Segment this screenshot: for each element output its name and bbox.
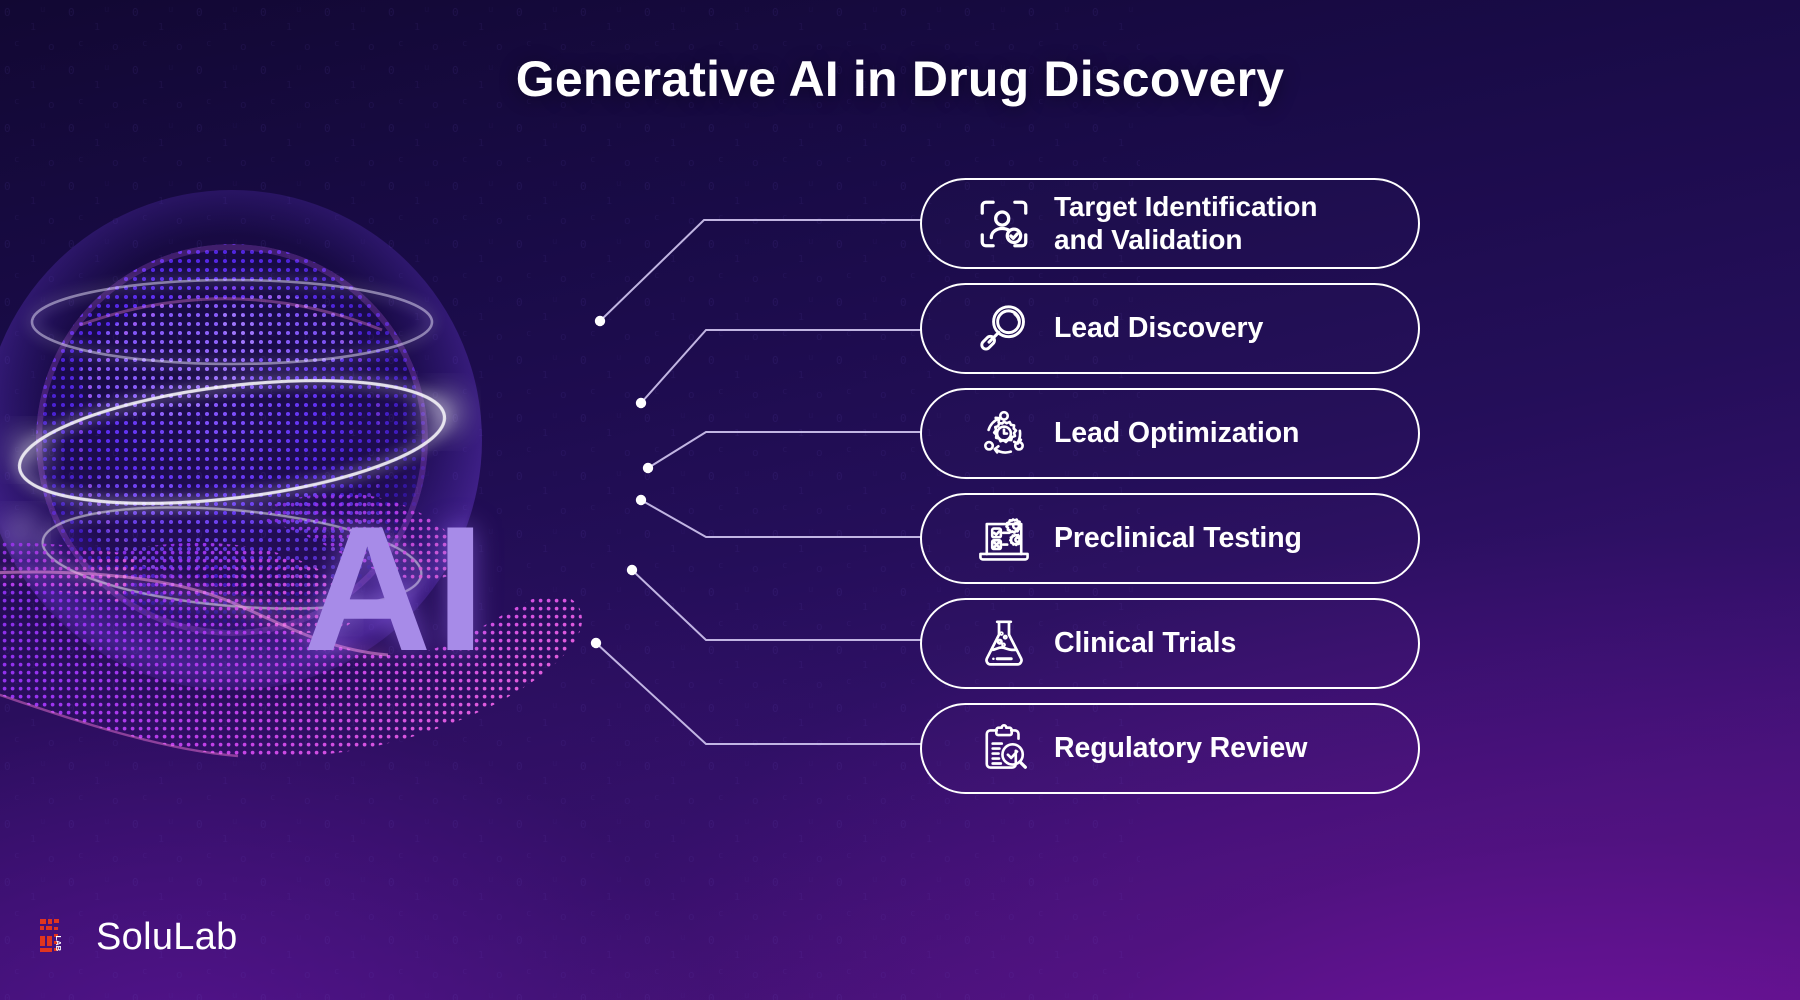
stage-list: Target Identificationand Validation Lead… xyxy=(920,178,1420,808)
stage-item-target-identification-and-validation[interactable]: Target Identificationand Validation xyxy=(920,178,1420,269)
stage-label: Target Identificationand Validation xyxy=(1054,191,1317,257)
ai-globe-hand-illustration: AI xyxy=(0,150,730,910)
page-title: Generative AI in Drug Discovery xyxy=(0,50,1800,108)
gear-cycle-optimize-icon xyxy=(970,400,1038,468)
solulab-qr-mark-icon: LAB xyxy=(38,915,82,959)
stage-label: Clinical Trials xyxy=(1054,628,1236,660)
laptop-checklist-gears-icon xyxy=(970,505,1038,573)
erlenmeyer-flask-icon xyxy=(970,610,1038,678)
logo-mark-lab-text: LAB xyxy=(54,936,63,952)
stage-label: Lead Optimization xyxy=(1054,418,1299,450)
stage-item-regulatory-review[interactable]: Regulatory Review xyxy=(920,703,1420,794)
stage-item-clinical-trials[interactable]: Clinical Trials xyxy=(920,598,1420,689)
person-scan-verify-icon xyxy=(970,190,1038,258)
stage-item-lead-optimization[interactable]: Lead Optimization xyxy=(920,388,1420,479)
brand-name: SoluLab xyxy=(96,916,238,959)
clipboard-magnifier-check-icon xyxy=(970,715,1038,783)
stage-item-preclinical-testing[interactable]: Preclinical Testing xyxy=(920,493,1420,584)
magnifying-glass-icon xyxy=(970,295,1038,363)
infographic-canvas: 0 1 o c u Generative AI in Drug Discover… xyxy=(0,0,1800,1000)
brand-logo[interactable]: LAB SoluLab xyxy=(38,915,238,959)
ai-label: AI xyxy=(303,500,489,678)
stage-label: Preclinical Testing xyxy=(1054,523,1302,555)
stage-item-lead-discovery[interactable]: Lead Discovery xyxy=(920,283,1420,374)
stage-label: Lead Discovery xyxy=(1054,313,1263,345)
stage-label: Regulatory Review xyxy=(1054,733,1307,765)
